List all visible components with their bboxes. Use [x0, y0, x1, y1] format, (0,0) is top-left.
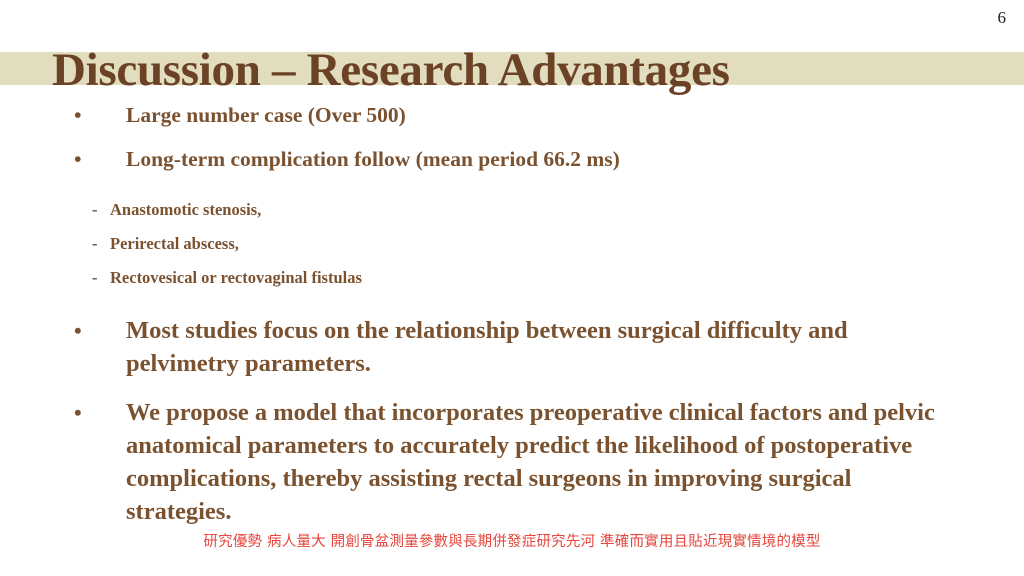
sub-bullet-text: Perirectal abscess, [110, 234, 239, 253]
dash-marker-icon: - [92, 196, 106, 224]
spacer [0, 188, 1024, 196]
sub-bullet-text: Anastomotic stenosis, [110, 200, 261, 219]
bullet-text: Most studies focus on the relationship b… [126, 317, 848, 377]
slide-body: • Large number case (Over 500) • Long-te… [0, 100, 1024, 510]
bullet-marker-icon: • [74, 144, 94, 174]
sub-bullet-item: - Perirectal abscess, [0, 230, 1024, 258]
bullet-item: • We propose a model that incorporates p… [0, 396, 1024, 528]
bullet-marker-icon: • [74, 396, 94, 429]
bullet-text: Long-term complication follow (mean peri… [126, 147, 620, 171]
bullet-item: • Long-term complication follow (mean pe… [0, 144, 1024, 174]
spacer [0, 298, 1024, 314]
dash-marker-icon: - [92, 264, 106, 292]
slide-title: Discussion – Research Advantages [52, 41, 952, 99]
bullet-marker-icon: • [74, 100, 94, 130]
presentation-slide: 6 Discussion – Research Advantages • Lar… [0, 0, 1024, 576]
sub-bullet-text: Rectovesical or rectovaginal fistulas [110, 268, 362, 287]
sub-bullet-item: - Rectovesical or rectovaginal fistulas [0, 264, 1024, 292]
bullet-marker-icon: • [74, 314, 94, 347]
bullet-text: We propose a model that incorporates pre… [126, 399, 935, 525]
bullet-item: • Most studies focus on the relationship… [0, 314, 1024, 380]
bullet-text: Large number case (Over 500) [126, 103, 406, 127]
dash-marker-icon: - [92, 230, 106, 258]
bullet-item: • Large number case (Over 500) [0, 100, 1024, 130]
page-number: 6 [998, 8, 1007, 28]
sub-bullet-item: - Anastomotic stenosis, [0, 196, 1024, 224]
footer-caption: 研究優勢 病人量大 開創骨盆測量參數與長期併發症研究先河 準確而實用且貼近現實情… [0, 532, 1024, 552]
